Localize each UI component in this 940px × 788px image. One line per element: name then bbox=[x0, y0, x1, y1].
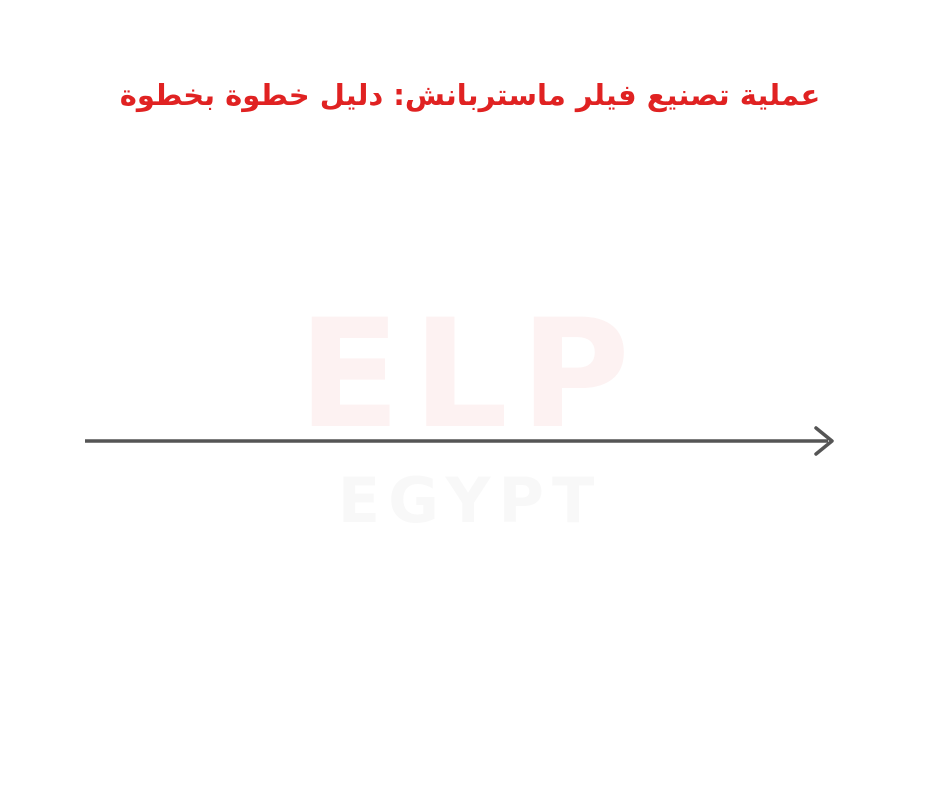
page-title: عملية تصنيع فيلر ماستربانش: دليل خطوة بخ… bbox=[0, 78, 940, 112]
infographic-canvas: ELP EGYPT عملية تصنيع فيلر ماستربانش: دل… bbox=[0, 0, 940, 788]
timeline-axis bbox=[0, 0, 940, 788]
